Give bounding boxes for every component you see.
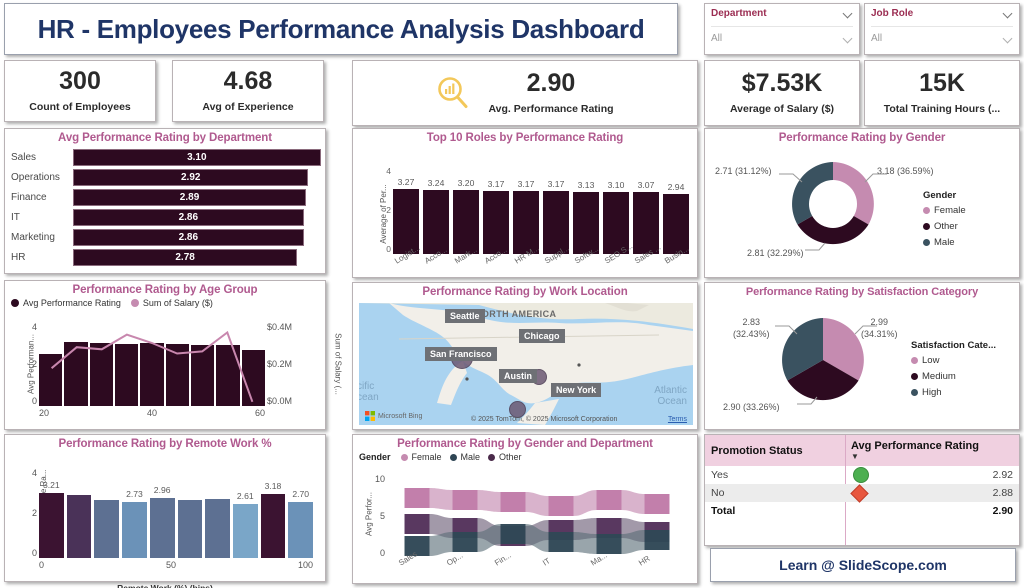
- y-tick: 5: [380, 511, 385, 521]
- y2-axis-label: Sum of Salary (...: [333, 333, 342, 395]
- y-axis-ticks: 420: [21, 468, 37, 558]
- bar-column[interactable]: 3.17: [483, 166, 509, 254]
- legend-swatch: [11, 299, 19, 307]
- ribbon-band: [405, 488, 670, 516]
- table-promotion-status[interactable]: Promotion Status Avg Performance Rating …: [704, 434, 1020, 546]
- bar-rect: [150, 498, 175, 558]
- y-tick: 2: [386, 205, 391, 215]
- legend-item[interactable]: Other: [488, 452, 522, 462]
- cell-value: 2.92: [993, 469, 1013, 481]
- ribbon-node[interactable]: [405, 514, 430, 534]
- bar-rect: [205, 499, 230, 558]
- legend-label: High: [922, 387, 942, 398]
- slicer-job-role-label: Job Role: [871, 8, 913, 19]
- dashboard-canvas: HR - Employees Performance Analysis Dash…: [0, 0, 1024, 588]
- x-tick: 40: [147, 408, 157, 418]
- kpi-avg-of-experience[interactable]: 4.68 Avg of Experience: [172, 60, 324, 122]
- bar-value: 2.78: [73, 249, 297, 266]
- bar-value-label: 2.96: [154, 485, 171, 496]
- bar-column[interactable]: 2.70: [288, 468, 313, 558]
- chart-top-10-roles-by-performance-rating[interactable]: Top 10 Roles by Performance Rating Avera…: [352, 128, 698, 278]
- chart-legend[interactable]: Avg Performance RatingSum of Salary ($): [5, 296, 325, 308]
- bar-value-label: 2.70: [292, 489, 309, 500]
- map-attribution: © 2025 TomTom, © 2025 Microsoft Corporat…: [471, 416, 617, 423]
- ribbon-node[interactable]: [597, 490, 622, 510]
- chart-plot-area: Average of Per... 420 3.273.243.203.173.…: [353, 144, 697, 292]
- bar-value-label: 3.18: [265, 481, 282, 492]
- bar-value: 2.86: [73, 229, 304, 246]
- bar-category-label: Marketing: [11, 232, 73, 243]
- legend-label: Female: [412, 452, 442, 462]
- cell-promotion-status: Yes: [705, 466, 845, 484]
- x-tick: 20: [39, 408, 49, 418]
- chart-performance-rating-by-satisfaction-category[interactable]: Performance Rating by Satisfaction Categ…: [704, 282, 1020, 430]
- column-header-avg-performance-rating[interactable]: Avg Performance Rating ▼: [845, 435, 1019, 466]
- y-tick: 0: [386, 244, 391, 254]
- table-row[interactable]: Yes2.92: [705, 466, 1019, 484]
- legend-item[interactable]: Low: [911, 355, 996, 366]
- legend-swatch: [131, 299, 139, 307]
- bar-row[interactable]: IT2.86: [11, 208, 321, 227]
- y-tick: 2: [32, 508, 37, 518]
- slicer-job-role-value: All: [871, 33, 882, 44]
- chart-legend[interactable]: Gender FemaleOtherMale: [923, 190, 966, 253]
- bar-rect: [39, 493, 64, 558]
- kpi-count-of-employees[interactable]: 300 Count of Employees: [4, 60, 156, 122]
- kpi-value: 2.90: [527, 71, 576, 96]
- legend-label: Sum of Salary ($): [143, 298, 213, 308]
- chart-performance-rating-by-gender[interactable]: Performance Rating by Gender 2.71 (31.12…: [704, 128, 1020, 278]
- cell-avg-performance-rating: 2.90: [845, 502, 1019, 520]
- bar-column[interactable]: 2.73: [122, 468, 147, 558]
- chevron-down-icon[interactable]: [1004, 34, 1013, 43]
- y2-tick: $0.2M: [267, 359, 292, 369]
- cell-value: 2.90: [993, 505, 1013, 517]
- bar-column[interactable]: [178, 468, 203, 558]
- chart-plot-area: 2.71 (31.12%) 3.18 (36.59%) 2.81 (32.29%…: [705, 144, 1019, 292]
- legend-label: Avg Performance Rating: [23, 298, 121, 308]
- bar-value-label: 3.13: [578, 180, 595, 190]
- y2-axis-ticks: $0.4M$0.2M$0.0M: [267, 322, 309, 406]
- kpi-total-training-hours[interactable]: 15K Total Training Hours (...: [864, 60, 1020, 126]
- chart-legend[interactable]: Gender FemaleMaleOther: [353, 450, 697, 462]
- bar-row[interactable]: Finance2.89: [11, 188, 321, 207]
- line-series: [39, 322, 265, 406]
- bar-value-label: 3.20: [458, 178, 475, 188]
- bar-row[interactable]: HR2.78: [11, 248, 321, 267]
- bar-rect: [288, 502, 313, 558]
- bar-value-label: 2.61: [237, 491, 254, 502]
- legend-label: Medium: [922, 371, 956, 382]
- bar-category-label: IT: [11, 212, 73, 223]
- kpi-avg-performance-rating[interactable]: 2.90 Avg. Performance Rating: [352, 60, 698, 126]
- chart-plot-area: Sales3.10Operations2.92Finance2.89IT2.86…: [5, 148, 325, 267]
- x-tick: 60: [255, 408, 265, 418]
- bar-rect: [261, 494, 286, 558]
- chart-avg-performance-rating-by-department[interactable]: Avg Performance Rating by Department Sal…: [4, 128, 326, 274]
- chevron-down-icon[interactable]: [1004, 9, 1013, 18]
- bar-value-label: 2.73: [126, 489, 143, 500]
- bar-column[interactable]: 3.24: [423, 166, 449, 254]
- ribbon-node[interactable]: [501, 492, 526, 512]
- legend-swatch: [923, 239, 930, 246]
- chart-legend[interactable]: Satisfaction Cate... LowMediumHigh: [911, 340, 996, 403]
- legend-swatch: [911, 389, 918, 396]
- bar-column[interactable]: 3.18: [261, 468, 286, 558]
- ribbon-node[interactable]: [405, 488, 430, 508]
- slicer-department-value: All: [711, 33, 722, 44]
- x-axis-ticks: 050100: [39, 560, 313, 570]
- kpi-value: 300: [59, 69, 101, 94]
- x-tick: 0: [39, 560, 44, 570]
- kpi-label: Total Training Hours (...: [884, 103, 1000, 115]
- x-tick: 50: [166, 560, 176, 570]
- legend-swatch: [923, 223, 930, 230]
- x-axis-label: Remote Work (%) (bins): [5, 583, 325, 588]
- chart-plot-area: 2.83(32.43%) 2.99(34.31%) 2.90 (33.26%) …: [705, 298, 1019, 444]
- donut-svg: [705, 140, 1021, 268]
- bar-row[interactable]: Operations2.92: [11, 168, 321, 187]
- map-label-austin[interactable]: Austin: [499, 369, 537, 383]
- bar-value-label: 3.10: [608, 180, 625, 190]
- legend-label: Female: [934, 205, 966, 216]
- legend-label: Other: [499, 452, 522, 462]
- legend-swatch: [911, 357, 918, 364]
- bar-rect: [178, 500, 203, 558]
- x-axis-ticks: Logist...Acco...Mark...Acco...HR M...Sup…: [393, 258, 693, 267]
- bar-value-label: 3.07: [638, 180, 655, 190]
- bar-category-label: HR: [11, 252, 73, 263]
- map-ocean-atlantic: AtlanticOcean: [654, 385, 687, 407]
- bar-value-label: 2.94: [668, 182, 685, 192]
- kpi-label: Avg. Performance Rating: [488, 103, 613, 115]
- cell-avg-performance-rating: 2.88: [845, 484, 1019, 502]
- legend-swatch: [923, 207, 930, 214]
- y-tick: 0: [32, 548, 37, 558]
- map-region-north-america: NORTH AMERICA: [475, 309, 556, 319]
- slicer-department-label: Department: [711, 8, 767, 19]
- map-provider-name: Microsoft Bing: [378, 413, 422, 420]
- bar-value: 2.86: [73, 209, 304, 226]
- cell-value: 2.88: [993, 487, 1013, 499]
- x-tick: 100: [298, 560, 313, 570]
- legend-title: Gender: [923, 190, 966, 201]
- map-label-san-francisco[interactable]: San Francisco: [425, 347, 497, 361]
- bar-column[interactable]: [67, 468, 92, 558]
- y-tick: 4: [386, 166, 391, 176]
- bar-value: 2.92: [73, 169, 308, 186]
- legend-item[interactable]: Female: [923, 205, 966, 216]
- bar-value-label: 3.24: [428, 178, 445, 188]
- kpi-value: 4.68: [224, 69, 273, 94]
- cell-promotion-status: Total: [705, 502, 845, 520]
- legend-title: Gender: [359, 452, 391, 462]
- y-axis-ticks: 420: [21, 322, 37, 406]
- status-bad-icon: [850, 484, 868, 502]
- bar-column[interactable]: 3.17: [513, 166, 539, 254]
- kpi-label: Count of Employees: [29, 101, 131, 113]
- bar-category-label: Sales: [11, 152, 73, 163]
- legend-title: Satisfaction Cate...: [911, 340, 996, 351]
- bar-rect: [233, 504, 258, 558]
- chart-title: Performance Rating by Remote Work %: [5, 435, 325, 450]
- chart-plot-area: Avg Perfor... 1050 SalesOp...Fin...ITMa.…: [353, 462, 697, 588]
- kpi-label: Avg of Experience: [202, 101, 293, 113]
- chevron-down-icon[interactable]: [844, 9, 853, 18]
- magnifier-chart-icon: [436, 76, 470, 110]
- chart-performance-rating-by-gender-and-department[interactable]: Performance Rating by Gender and Departm…: [352, 434, 698, 584]
- map-canvas[interactable]: NORTH AMERICA cificcean AtlanticOcean Se…: [359, 303, 693, 425]
- map-ocean-pacific: cificcean: [359, 381, 379, 403]
- legend-item[interactable]: Medium: [911, 371, 996, 382]
- legend-item[interactable]: Other: [923, 221, 966, 232]
- kpi-average-of-salary[interactable]: $7.53K Average of Salary ($): [704, 60, 860, 126]
- bar-column[interactable]: 3.27: [393, 166, 419, 254]
- y-tick: 0: [380, 548, 385, 558]
- bar-column[interactable]: [94, 468, 119, 558]
- slicer-job-role[interactable]: Job Role All: [864, 3, 1020, 55]
- kpi-value: $7.53K: [742, 71, 823, 96]
- chart-title: Performance Rating by Work Location: [353, 283, 697, 298]
- legend-item[interactable]: Female: [401, 452, 442, 462]
- legend-label: Other: [934, 221, 958, 232]
- legend-item[interactable]: Male: [923, 237, 966, 248]
- chart-performance-rating-by-remote-work-pct[interactable]: Performance Rating by Remote Work % Avg …: [4, 434, 326, 582]
- ribbon-node[interactable]: [453, 490, 478, 510]
- bar-row[interactable]: Marketing2.86: [11, 228, 321, 247]
- bar-value: 2.89: [73, 189, 306, 206]
- bar-column[interactable]: 3.07: [633, 166, 659, 254]
- cell-promotion-status: No: [705, 484, 845, 502]
- bar-value-label: 3.21: [43, 480, 60, 491]
- map-label-seattle[interactable]: Seattle: [445, 309, 485, 323]
- chart-title: Avg Performance Rating by Department: [5, 129, 325, 144]
- sort-descending-icon: ▼: [851, 452, 1013, 461]
- table-header-row: Promotion Status Avg Performance Rating …: [705, 435, 1019, 466]
- cell-avg-performance-rating: 2.92: [845, 466, 1019, 484]
- legend-swatch: [911, 373, 918, 380]
- status-good-icon: [853, 467, 869, 483]
- ribbon-node[interactable]: [645, 494, 670, 514]
- x-axis-ticks: SalesOp...Fin...ITMa...HR: [397, 560, 685, 569]
- bar-rect: [122, 502, 147, 558]
- bar-column[interactable]: 2.96: [150, 468, 175, 558]
- legend-swatch: [488, 454, 495, 461]
- y-tick: 10: [375, 474, 385, 484]
- y-tick: 2: [32, 359, 37, 369]
- map-label-chicago[interactable]: Chicago: [519, 329, 565, 343]
- chart-title: Performance Rating by Age Group: [5, 281, 325, 296]
- y-tick: 4: [32, 468, 37, 478]
- legend-item[interactable]: Sum of Salary ($): [131, 298, 213, 308]
- bar-series: 3.212.732.962.613.182.70: [39, 468, 313, 558]
- chart-title: Performance Rating by Gender and Departm…: [353, 435, 697, 450]
- legend-item[interactable]: Avg Performance Rating: [11, 298, 121, 308]
- legend-item[interactable]: Male: [450, 452, 481, 462]
- bar-column[interactable]: 3.20: [453, 166, 479, 254]
- x-axis-ticks: 204060: [39, 408, 265, 418]
- y-axis-ticks: 1050: [367, 474, 385, 558]
- y-tick: 4: [32, 322, 37, 332]
- bar-column[interactable]: 2.94: [663, 166, 689, 254]
- bar-column[interactable]: 2.61: [233, 468, 258, 558]
- bar-category-label: Finance: [11, 192, 73, 203]
- y2-tick: $0.4M: [267, 322, 292, 332]
- table-row[interactable]: No2.88: [705, 484, 1019, 502]
- map-label-new-york[interactable]: New York: [551, 383, 601, 397]
- chart-title: Top 10 Roles by Performance Rating: [353, 129, 697, 144]
- y-tick: 0: [32, 396, 37, 406]
- bar-column[interactable]: 3.17: [543, 166, 569, 254]
- bar-column[interactable]: 3.21: [39, 468, 64, 558]
- bar-column[interactable]: 3.10: [603, 166, 629, 254]
- chart-performance-rating-by-work-location[interactable]: Performance Rating by Work Location NORT…: [352, 282, 698, 430]
- bar-row[interactable]: Sales3.10: [11, 148, 321, 167]
- chart-performance-rating-by-age-group[interactable]: Performance Rating by Age Group Avg Perf…: [4, 280, 326, 430]
- legend-swatch: [401, 454, 408, 461]
- bar-rect: [94, 500, 119, 558]
- bar-value-label: 3.17: [548, 179, 565, 189]
- promotion-status-table[interactable]: Promotion Status Avg Performance Rating …: [705, 435, 1019, 520]
- bar-value: 3.10: [73, 149, 321, 166]
- chevron-down-icon[interactable]: [844, 34, 853, 43]
- footer-text: Learn @ SlideScope.com: [779, 557, 947, 573]
- chart-plot-area: Avg Performance Ra... 420 3.212.732.962.…: [5, 450, 325, 588]
- bar-value-label: 3.27: [398, 177, 415, 187]
- y-axis-ticks: 420: [375, 166, 391, 254]
- map-terms-link[interactable]: Terms: [668, 416, 687, 423]
- bar-category-label: Operations: [11, 172, 73, 183]
- bar-series: 3.273.243.203.173.173.173.133.103.072.94: [393, 166, 689, 254]
- bar-column[interactable]: 3.13: [573, 166, 599, 254]
- column-header-promotion-status[interactable]: Promotion Status: [705, 435, 845, 466]
- legend-item[interactable]: High: [911, 387, 996, 398]
- legend-swatch: [450, 454, 457, 461]
- page-title: HR - Employees Performance Analysis Dash…: [4, 3, 678, 55]
- bar-value-label: 3.17: [488, 179, 505, 189]
- legend-label: Low: [922, 355, 939, 366]
- y2-tick: $0.0M: [267, 396, 292, 406]
- map-provider-logo: Microsoft Bing: [365, 411, 422, 421]
- footer-link[interactable]: Learn @ SlideScope.com: [710, 548, 1016, 582]
- kpi-value: 15K: [919, 71, 965, 96]
- slicer-department[interactable]: Department All: [704, 3, 860, 55]
- bar-rect: [67, 495, 92, 558]
- kpi-label: Average of Salary ($): [730, 103, 834, 115]
- bar-column[interactable]: [205, 468, 230, 558]
- page-title-text: HR - Employees Performance Analysis Dash…: [38, 14, 645, 45]
- bar-value-label: 3.17: [518, 179, 535, 189]
- map-landmass: [359, 303, 693, 425]
- legend-label: Male: [934, 237, 955, 248]
- legend-label: Male: [461, 452, 481, 462]
- table-row[interactable]: Total2.90: [705, 502, 1019, 520]
- ribbon-node[interactable]: [549, 496, 574, 516]
